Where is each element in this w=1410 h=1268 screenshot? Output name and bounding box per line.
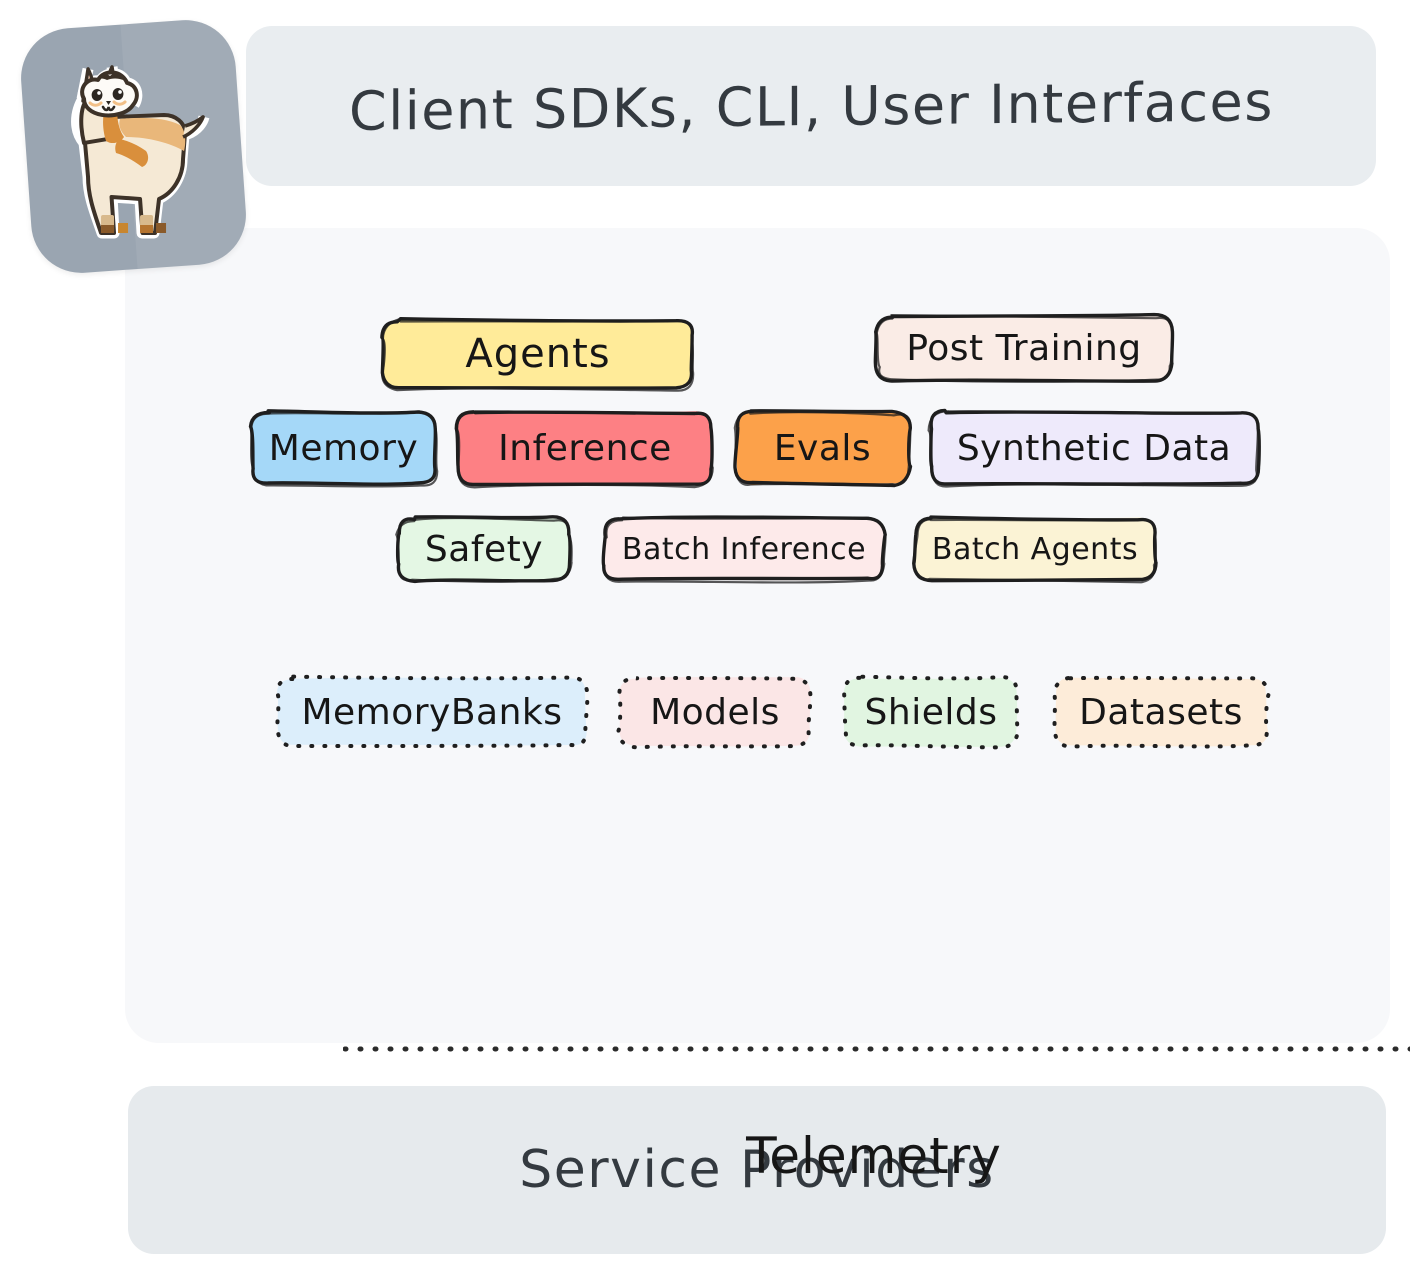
api-box-post-training-label: Post Training: [906, 328, 1141, 369]
resource-box-datasets-label: Datasets: [1079, 692, 1243, 733]
llama-stack-panel: AgentsPost TrainingMemoryInferenceEvalsS…: [125, 228, 1390, 1043]
api-box-post-training[interactable]: Post Training: [877, 316, 1171, 380]
api-box-batch-inference-label: Batch Inference: [622, 532, 866, 567]
api-box-safety[interactable]: Safety: [398, 518, 570, 580]
telemetry-label: Telemetry: [746, 1127, 1002, 1185]
page-title: Client SDKs, CLI, User Interfaces: [349, 70, 1274, 143]
section-divider: [343, 1046, 1410, 1052]
resource-box-datasets[interactable]: Datasets: [1055, 678, 1267, 746]
api-box-memory[interactable]: Memory: [252, 412, 435, 484]
api-box-synthetic-data-label: Synthetic Data: [957, 428, 1231, 469]
client-interfaces-band: Client SDKs, CLI, User Interfaces: [246, 26, 1376, 186]
resource-box-models-label: Models: [650, 692, 780, 733]
api-box-evals-label: Evals: [774, 428, 871, 469]
api-box-synthetic-data[interactable]: Synthetic Data: [930, 412, 1258, 484]
llama-logo-icon: [44, 47, 224, 247]
api-box-agents[interactable]: Agents: [383, 320, 693, 388]
resource-box-shields[interactable]: Shields: [845, 678, 1017, 746]
resource-box-shields-label: Shields: [865, 692, 998, 733]
api-box-agents-label: Agents: [465, 331, 610, 377]
api-box-batch-agents-label: Batch Agents: [932, 532, 1138, 567]
api-box-inference[interactable]: Inference: [458, 412, 712, 484]
api-box-batch-inference[interactable]: Batch Inference: [604, 518, 884, 580]
resource-box-memorybanks-label: MemoryBanks: [301, 692, 562, 733]
resource-box-models[interactable]: Models: [620, 678, 810, 746]
api-box-safety-label: Safety: [425, 529, 543, 570]
api-box-memory-label: Memory: [269, 428, 418, 469]
api-box-evals[interactable]: Evals: [736, 412, 909, 484]
resource-box-memorybanks[interactable]: MemoryBanks: [278, 678, 586, 746]
api-box-batch-agents[interactable]: Batch Agents: [915, 518, 1155, 580]
api-box-inference-label: Inference: [498, 428, 672, 469]
llama-logo-badge: [18, 17, 250, 276]
